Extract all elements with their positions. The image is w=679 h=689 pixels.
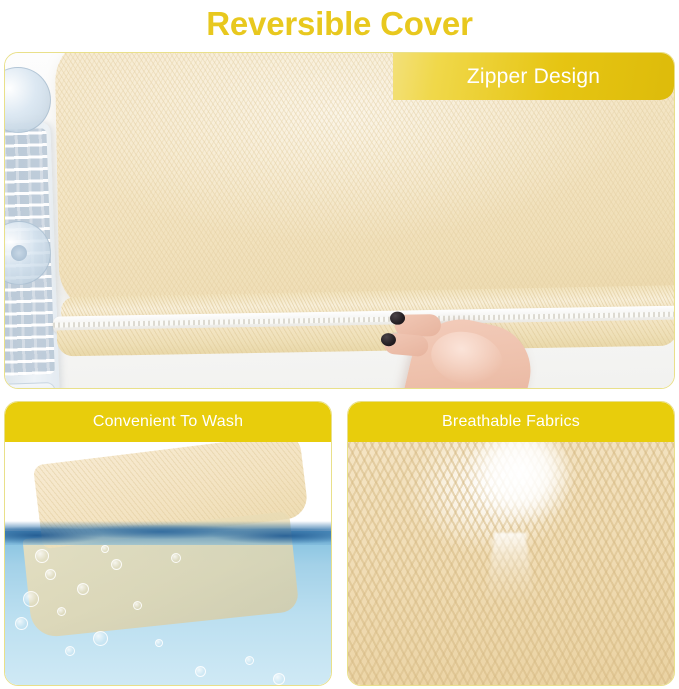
zipper-design-banner: Zipper Design <box>393 53 674 100</box>
hand-highlight <box>426 325 508 389</box>
breathable-fabrics-panel: Breathable Fabrics <box>347 401 675 686</box>
bubble <box>155 639 163 647</box>
breathable-fabrics-banner: Breathable Fabrics <box>348 402 674 442</box>
zipper-design-panel: Zipper Design <box>4 52 675 389</box>
breathable-fabrics-photo <box>348 441 674 685</box>
bubble <box>171 553 181 563</box>
bubble <box>245 656 254 665</box>
bubble <box>195 666 206 677</box>
bubble <box>23 591 39 607</box>
bubble <box>93 631 108 646</box>
bubble <box>133 601 142 610</box>
bubble <box>111 559 122 570</box>
convenient-to-wash-panel: Convenient To Wash <box>4 401 332 686</box>
convenient-to-wash-photo <box>5 441 331 685</box>
bubble <box>101 545 109 553</box>
convenient-to-wash-banner: Convenient To Wash <box>5 402 331 442</box>
zipper-design-photo <box>5 53 674 388</box>
bubble <box>15 617 28 630</box>
bubble <box>57 607 66 616</box>
page-title: Reversible Cover <box>0 2 679 46</box>
bubble <box>35 549 49 563</box>
frame-foot <box>4 382 56 389</box>
bubble <box>45 569 56 580</box>
bubble <box>273 673 285 685</box>
bubble <box>77 583 89 595</box>
water-surface <box>5 521 331 545</box>
bubble <box>65 646 75 656</box>
